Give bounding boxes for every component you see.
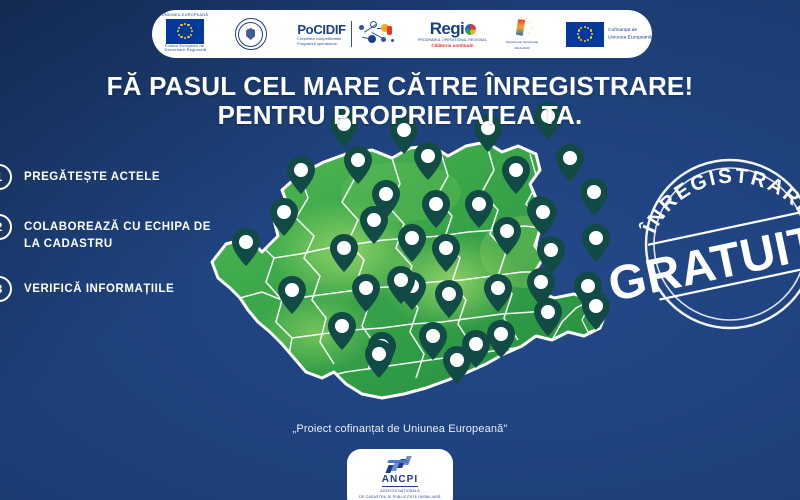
list-item: 2 COLABOREAZĂ CU ECHIPA DE LA CADASTRU xyxy=(0,218,216,252)
ancpi-wordmark: ANCPI xyxy=(382,475,419,487)
list-item: 3 VERIFICĂ INFORMAȚIILE xyxy=(0,280,216,302)
pocidif-network-icon xyxy=(357,19,397,49)
map-pin xyxy=(582,224,610,262)
step-number-badge: 1 xyxy=(0,164,12,190)
footnote-text: „Proiect cofinanțat de Uniunea Europeană… xyxy=(0,423,800,435)
funding-logo-bar: UNIUNEA EUROPEANĂ Fondul European de Dez… xyxy=(152,10,652,58)
step-label: PREGĂTEȘTE ACTELE xyxy=(24,168,160,186)
government-of-romania-seal xyxy=(235,18,267,50)
map-pin xyxy=(580,178,608,216)
co-funded-line2: Uniunea Europeană xyxy=(608,34,652,41)
headline-line-2: PENTRU PROPRIETATEA TA. xyxy=(0,101,800,130)
regio-color-dot-icon xyxy=(465,24,476,35)
eu-flag-icon xyxy=(166,19,204,44)
map-pin xyxy=(556,144,584,182)
list-item: 1 PREGĂTEȘTE ACTELE xyxy=(0,168,216,190)
eu-regional-development-fund-logo: UNIUNEA EUROPEANĂ Fondul European de Dez… xyxy=(166,14,204,54)
stamp-main-text: GRATUITĂ xyxy=(604,208,800,312)
poster-canvas: UNIUNEA EUROPEANĂ Fondul European de Dez… xyxy=(0,0,800,500)
ancpi-sub-line1: AGENȚIA NAȚIONALĂ xyxy=(380,489,420,494)
pocidif-wordmark: PoCIDIF xyxy=(297,23,345,36)
crest-shield-icon xyxy=(246,28,255,40)
regio-wordmark: Regi xyxy=(430,19,464,38)
structural-instruments-sub-line1: Instrumente Structurale xyxy=(505,41,539,46)
eu-flag-icon xyxy=(566,22,604,47)
step-label: VERIFICĂ INFORMAȚIILE xyxy=(24,280,174,298)
ancpi-sub-line2: DE CADASTRU ȘI PUBLICITATE IMOBILIARĂ xyxy=(359,495,441,500)
structural-instruments-sub-line2: 2014-2020 xyxy=(505,46,539,51)
pocidif-logo: PoCIDIF Creșterea competitivității Progr… xyxy=(297,19,396,49)
ancpi-logo-badge: ANCPI AGENȚIA NAȚIONALĂ DE CADASTRU ȘI P… xyxy=(347,449,453,500)
co-funded-by-eu-logo: Cofinanțat de Uniunea Europeană xyxy=(566,22,638,47)
structural-instruments-logo: Instrumente Structurale 2014-2020 xyxy=(509,17,535,50)
eu-left-sub-line2: Dezvoltare Regională xyxy=(164,48,206,53)
ancpi-chevron-icon xyxy=(385,456,415,474)
regio-sub-line2: Călătoria continuă! xyxy=(420,44,486,49)
regio-sub-line1: PROGRAMUL OPERAȚIONAL REGIONAL xyxy=(418,39,487,42)
step-number-badge: 3 xyxy=(0,276,12,302)
romania-county-map xyxy=(196,132,626,422)
headline-line-1: FĂ PASUL CEL MARE CĂTRE ÎNREGISTRARE! xyxy=(107,71,694,101)
structural-instruments-icon xyxy=(509,17,535,39)
status-badge: ÎNREGISTRARE GRATUITĂ xyxy=(634,152,800,328)
co-funded-line1: Cofinanțat de xyxy=(608,27,652,34)
regio-logo: Regi PROGRAMUL OPERAȚIONAL REGIONAL Călă… xyxy=(427,20,478,49)
pocidif-sub-line2: Programul operațional xyxy=(297,41,360,47)
step-label: COLABOREAZĂ CU ECHIPA DE LA CADASTRU xyxy=(24,218,216,252)
romania-coat-of-arms-icon xyxy=(235,18,267,50)
steps-list: 1 PREGĂTEȘTE ACTELE 2 COLABOREAZĂ CU ECH… xyxy=(0,168,216,330)
headline: FĂ PASUL CEL MARE CĂTRE ÎNREGISTRARE! PE… xyxy=(0,72,800,131)
step-number-badge: 2 xyxy=(0,214,12,240)
